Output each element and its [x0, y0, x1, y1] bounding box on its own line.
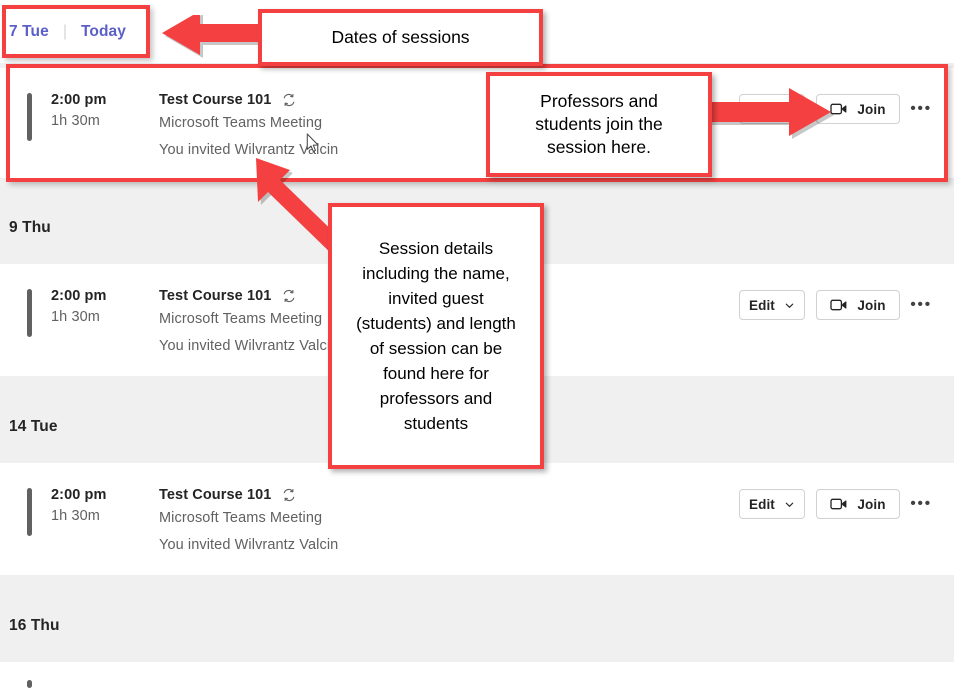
session-title-row: Test Course 101 — [159, 286, 338, 306]
recurring-icon — [281, 92, 297, 108]
video-camera-icon — [830, 497, 848, 511]
session-card-partial[interactable] — [9, 662, 954, 688]
video-camera-icon — [830, 102, 848, 116]
session-duration: 1h 30m — [51, 505, 146, 527]
more-options-label: ••• — [910, 106, 932, 112]
session-title: Test Course 101 — [159, 485, 271, 505]
session-action-buttons: Edit Join ••• — [739, 489, 936, 519]
session-invitees: You invited Wilvrantz Valcin — [159, 137, 338, 164]
chevron-down-icon — [784, 104, 795, 115]
chevron-down-icon — [784, 300, 795, 311]
edit-button-label: Edit — [749, 497, 775, 512]
join-button-label: Join — [857, 298, 885, 313]
session-location: Microsoft Teams Meeting — [159, 306, 338, 333]
video-camera-icon — [830, 298, 848, 312]
session-start-time: 2:00 pm — [51, 485, 146, 505]
session-card[interactable]: 2:00 pm 1h 30m Test Course 101 Mic — [9, 264, 954, 376]
session-card[interactable]: 2:00 pm 1h 30m Test Course 101 Mic — [9, 68, 954, 178]
session-time-column: 2:00 pm 1h 30m — [51, 90, 146, 132]
edit-button[interactable]: Edit — [739, 94, 805, 124]
join-button-label: Join — [857, 102, 885, 117]
day-band-2 — [0, 178, 954, 264]
chevron-down-icon — [784, 499, 795, 510]
session-duration: 1h 30m — [51, 110, 146, 132]
date-nav-separator: | — [63, 23, 67, 41]
day-band-3 — [0, 376, 954, 463]
join-button[interactable]: Join — [816, 290, 900, 320]
recurring-icon — [281, 487, 297, 503]
session-time-column: 2:00 pm 1h 30m — [51, 485, 146, 527]
recurring-icon — [281, 288, 297, 304]
current-date-label[interactable]: 7 Tue — [9, 23, 49, 41]
session-invitees: You invited Wilvrantz Valcin — [159, 532, 338, 559]
session-details-column: Test Course 101 Microsoft Teams Meeting … — [159, 286, 338, 360]
join-button[interactable]: Join — [816, 489, 900, 519]
more-options-button[interactable]: ••• — [906, 94, 936, 124]
session-action-buttons: Edit Join ••• — [739, 290, 936, 320]
session-accent-bar — [27, 680, 32, 688]
more-options-button[interactable]: ••• — [906, 489, 936, 519]
session-title-row: Test Course 101 — [159, 90, 338, 110]
session-duration: 1h 30m — [51, 306, 146, 328]
session-location: Microsoft Teams Meeting — [159, 110, 338, 137]
session-title: Test Course 101 — [159, 90, 271, 110]
join-button[interactable]: Join — [816, 94, 900, 124]
join-button-label: Join — [857, 497, 885, 512]
session-location: Microsoft Teams Meeting — [159, 505, 338, 532]
day-header: 16 Thu — [9, 617, 60, 635]
session-action-buttons: Edit Join ••• — [739, 94, 936, 124]
session-accent-bar — [27, 93, 32, 141]
day-band-4 — [0, 575, 954, 662]
edit-button[interactable]: Edit — [739, 290, 805, 320]
more-options-label: ••• — [910, 501, 932, 507]
session-start-time: 2:00 pm — [51, 286, 146, 306]
more-options-button[interactable]: ••• — [906, 290, 936, 320]
session-invitees: You invited Wilvrantz Valcin — [159, 333, 338, 360]
day-header: 14 Tue — [9, 418, 58, 436]
edit-button-label: Edit — [749, 298, 775, 313]
edit-button-label: Edit — [749, 102, 775, 117]
calendar-agenda-view: 7 Tue | Today 2:00 pm 1h 30m Test Course… — [0, 0, 954, 688]
session-details-column: Test Course 101 Microsoft Teams Meeting … — [159, 485, 338, 559]
session-title-row: Test Course 101 — [159, 485, 338, 505]
session-start-time: 2:00 pm — [51, 90, 146, 110]
day-header: 9 Thu — [9, 219, 51, 237]
date-navigation-bar: 7 Tue | Today — [0, 0, 954, 63]
session-title: Test Course 101 — [159, 286, 271, 306]
session-accent-bar — [27, 488, 32, 536]
edit-button[interactable]: Edit — [739, 489, 805, 519]
today-button[interactable]: Today — [81, 23, 126, 41]
more-options-label: ••• — [910, 302, 932, 308]
session-accent-bar — [27, 289, 32, 337]
session-time-column: 2:00 pm 1h 30m — [51, 286, 146, 328]
session-details-column: Test Course 101 Microsoft Teams Meeting … — [159, 90, 338, 164]
session-card[interactable]: 2:00 pm 1h 30m Test Course 101 Mic — [9, 463, 954, 575]
